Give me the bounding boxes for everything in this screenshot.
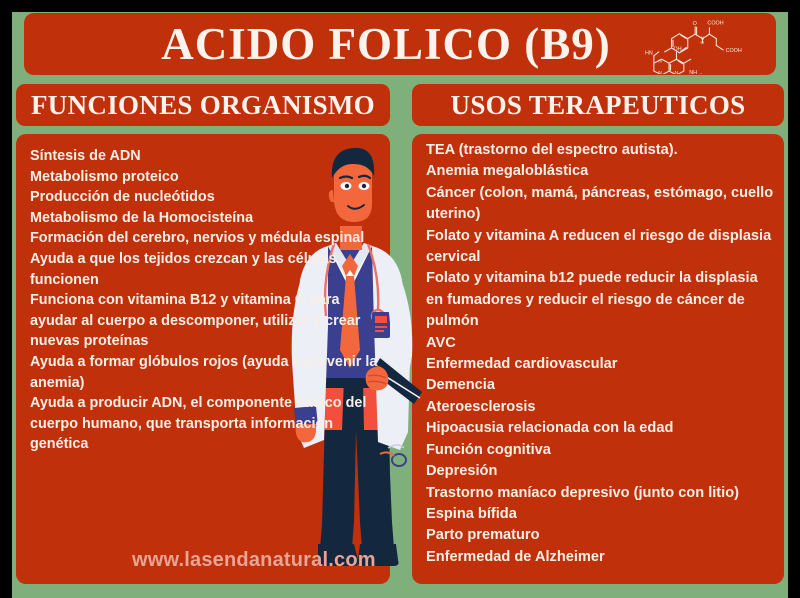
list-item: Depresión <box>412 461 784 482</box>
folic-acid-molecule-icon: O COOH COOH HN OH NH 2 H N N N N <box>644 16 762 74</box>
molecule-label-o: O <box>693 21 697 27</box>
list-item: Demencia <box>412 375 784 396</box>
molecule-label-oh: OH <box>674 46 682 52</box>
list-item: Formación del cerebro, nervios y médula … <box>16 228 390 249</box>
list-item: Parto prematuro <box>412 525 784 546</box>
panel-usos-terapeuticos: TEA (trastorno del espectro autista).Ane… <box>412 134 784 584</box>
list-item: Espina bífida <box>412 504 784 525</box>
list-usos-terapeuticos: TEA (trastorno del espectro autista).Ane… <box>412 134 784 568</box>
page-title: ACIDO FOLICO (B9) <box>161 22 611 67</box>
list-item: Función cognitiva <box>412 440 784 461</box>
list-item: Ateroesclerosis <box>412 397 784 418</box>
list-funciones-organismo: Síntesis de ADNMetabolismo proteicoProdu… <box>16 134 390 455</box>
molecule-label-cooh-2: COOH <box>726 48 742 54</box>
list-item: Hipoacusia relacionada con la edad <box>412 418 784 439</box>
list-item: Producción de nucleótidos <box>16 187 390 208</box>
panel-funciones-organismo: Síntesis de ADNMetabolismo proteicoProdu… <box>16 134 390 584</box>
molecule-label-n: N <box>701 36 704 41</box>
list-item: Folato y vitamina A reducen el riesgo de… <box>412 226 784 269</box>
molecule-label-h: H <box>701 40 704 45</box>
infographic-poster: ACIDO FOLICO (B9) <box>0 0 800 598</box>
molecule-label-hn: HN <box>645 50 653 56</box>
list-item: Trastorno maníaco depresivo (junto con l… <box>412 483 784 504</box>
column-header-right: USOS TERAPEUTICOS <box>412 84 784 126</box>
list-item: Folato y vitamina b12 puede reducir la d… <box>412 268 784 332</box>
column-header-right-label: USOS TERAPEUTICOS <box>451 90 746 121</box>
list-item: Funciona con vitamina B12 y vitamina C p… <box>16 290 390 352</box>
column-header-left: FUNCIONES ORGANISMO <box>16 84 390 126</box>
molecule-label-n2: N <box>658 59 662 65</box>
list-item: Ayuda a formar glóbulos rojos (ayuda a p… <box>16 352 390 393</box>
list-item: Metabolismo de la Homocisteína <box>16 208 390 229</box>
list-item: Enfermedad cardiovascular <box>412 354 784 375</box>
watermark: www.lasendanatural.com <box>132 549 376 572</box>
molecule-label-n4: N <box>674 70 678 74</box>
molecule-label-n3: N <box>658 70 662 74</box>
molecule-label-nh2-sub: 2 <box>700 72 702 74</box>
list-item: Metabolismo proteico <box>16 167 390 188</box>
list-item: Enfermedad de Alzheimer <box>412 547 784 568</box>
list-item: TEA (trastorno del espectro autista). <box>412 140 784 161</box>
molecule-label-cooh-1: COOH <box>707 20 723 26</box>
list-item: Anemia megaloblástica <box>412 161 784 182</box>
list-item: Síntesis de ADN <box>16 146 390 167</box>
poster-title-bar: ACIDO FOLICO (B9) <box>24 13 776 75</box>
list-item: AVC <box>412 333 784 354</box>
list-item: Cáncer (colon, mamá, páncreas, estómago,… <box>412 183 784 226</box>
column-header-left-label: FUNCIONES ORGANISMO <box>31 90 375 121</box>
list-item: Ayuda a producir ADN, el componente bási… <box>16 393 390 455</box>
molecule-label-nh2: NH <box>689 70 697 74</box>
list-item: Ayuda a que los tejidos crezcan y las cé… <box>16 249 390 290</box>
